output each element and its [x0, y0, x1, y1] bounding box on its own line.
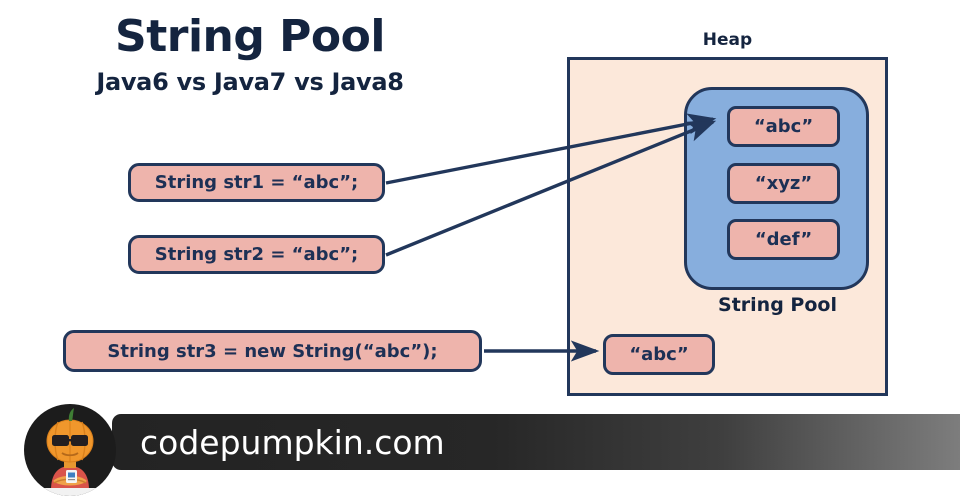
- code-text-str1: String str1 = “abc”;: [155, 172, 358, 193]
- pool-item-abc: “abc”: [727, 106, 840, 147]
- pool-item-xyz: “xyz”: [727, 163, 840, 204]
- code-text-str2: String str2 = “abc”;: [155, 244, 358, 265]
- code-box-str2: String str2 = “abc”;: [128, 235, 385, 274]
- code-box-str1: String str1 = “abc”;: [128, 163, 385, 202]
- pool-item-label: “xyz”: [755, 173, 812, 194]
- pumpkin-mascot-logo-icon: [24, 404, 116, 496]
- footer-site-name[interactable]: codepumpkin.com: [140, 414, 445, 470]
- pool-item-def: “def”: [727, 219, 840, 260]
- title-block: String Pool Java6 vs Java7 vs Java8: [0, 14, 500, 96]
- code-box-str3: String str3 = new String(“abc”);: [63, 330, 482, 372]
- heap-label: Heap: [567, 30, 888, 50]
- string-pool-container: “abc” “xyz” “def”: [684, 87, 869, 290]
- heap-object-abc: “abc”: [603, 334, 715, 375]
- pool-item-label: “abc”: [754, 116, 813, 137]
- page-subtitle: Java6 vs Java7 vs Java8: [0, 68, 500, 96]
- code-text-str3: String str3 = new String(“abc”);: [107, 341, 437, 362]
- page-title: String Pool: [0, 14, 500, 60]
- heap-object-label: “abc”: [629, 344, 688, 365]
- string-pool-label: String Pool: [670, 294, 885, 316]
- pool-item-label: “def”: [755, 229, 812, 250]
- heap-container: “abc” “xyz” “def” String Pool “abc”: [567, 57, 888, 396]
